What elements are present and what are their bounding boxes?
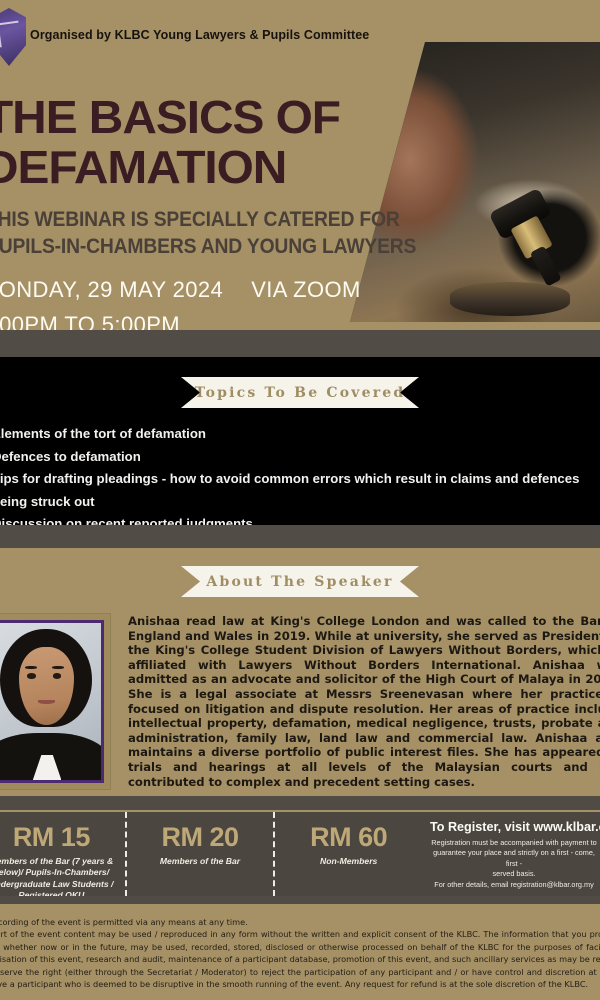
hero-section: Organised by KLBC Young Lawyers & Pupils…	[0, 0, 600, 338]
price-tier: RM 60 Non-Members	[273, 812, 422, 896]
page-title-line1: THE BASICS OF	[0, 92, 340, 142]
disclaimer-top-band	[0, 896, 600, 904]
registration-note: For other details, email registration@kl…	[428, 880, 600, 890]
page-title-line2: DEFAMATION	[0, 142, 340, 192]
speaker-ribbon: About The Speaker	[181, 566, 419, 597]
page-title: THE BASICS OF DEFAMATION	[0, 92, 340, 192]
topics-section: Topics To Be Covered Elements of the tor…	[0, 357, 600, 525]
webinar-poster: Organised by KLBC Young Lawyers & Pupils…	[0, 0, 600, 1000]
list-item: Defences to defamation	[0, 446, 600, 469]
event-datetime: MONDAY, 29 MAY 2024VIA ZOOM 3:00PM TO 5:…	[0, 272, 361, 338]
list-item: Tips for drafting pleadings - how to avo…	[0, 468, 600, 513]
registration-link[interactable]: To Register, visit www.klbar.org.my	[424, 820, 600, 834]
pricing-section: RM 15 Members of the Bar (7 years & belo…	[0, 812, 600, 896]
page-subtitle-line2: PUPILS-IN-CHAMBERS AND YOUNG LAWYERS	[0, 233, 416, 260]
price-tier: RM 20 Members of the Bar	[125, 812, 274, 896]
topics-list: Elements of the tort of defamation Defen…	[0, 423, 600, 536]
price-tier: RM 15 Members of the Bar (7 years & belo…	[0, 812, 125, 896]
registration-note: served basis.	[428, 869, 600, 879]
page-subtitle: THIS WEBINAR IS SPECIALLY CATERED FOR PU…	[0, 206, 416, 260]
event-platform: VIA ZOOM	[251, 277, 361, 302]
page-subtitle-line1: THIS WEBINAR IS SPECIALLY CATERED FOR	[0, 206, 416, 233]
speaker-portrait-photo-icon	[0, 620, 104, 783]
disclaimer-section: No recording of the event is permitted v…	[0, 896, 600, 1000]
registration-note: guarantee your place and strictly on a f…	[428, 848, 600, 869]
registration-notes: Registration must be accompanied with pa…	[424, 838, 600, 890]
topics-ribbon-label: Topics To Be Covered	[195, 385, 406, 401]
divider-band-upper	[0, 330, 600, 357]
price-amount: RM 20	[127, 822, 274, 852]
gavel-icon	[470, 174, 594, 298]
speaker-photo-frame	[0, 614, 110, 789]
klbc-crest-logo-icon	[0, 6, 30, 68]
registration-note: Registration must be accompanied with pa…	[428, 838, 600, 848]
event-date: MONDAY, 29 MAY 2024	[0, 277, 223, 302]
pricing-tiers: RM 15 Members of the Bar (7 years & belo…	[0, 812, 422, 896]
disclaimer-line: We reserve the right (either through the…	[0, 966, 600, 991]
disclaimer-line: No recording of the event is permitted v…	[0, 916, 600, 928]
price-description: Non-Members	[275, 856, 422, 867]
disclaimer-text: No recording of the event is permitted v…	[0, 916, 600, 990]
topics-ribbon: Topics To Be Covered	[181, 377, 419, 408]
divider-band-middle	[0, 525, 600, 548]
speaker-section: About The Speaker Anishaa read	[0, 548, 600, 796]
registration-info: To Register, visit www.klbar.org.my Regi…	[424, 820, 600, 890]
list-item: Elements of the tort of defamation	[0, 423, 600, 446]
price-description: Members of the Bar (7 years & below)/ Pu…	[0, 856, 125, 902]
disclaimer-line: No part of the event content may be used…	[0, 928, 600, 965]
price-amount: RM 60	[275, 822, 422, 852]
speaker-bio: Anishaa read law at King's College Londo…	[128, 614, 600, 789]
organiser-line: Organised by KLBC Young Lawyers & Pupils…	[30, 28, 369, 42]
price-amount: RM 15	[0, 822, 125, 852]
price-description: Members of the Bar	[127, 856, 274, 867]
speaker-ribbon-label: About The Speaker	[206, 574, 393, 590]
